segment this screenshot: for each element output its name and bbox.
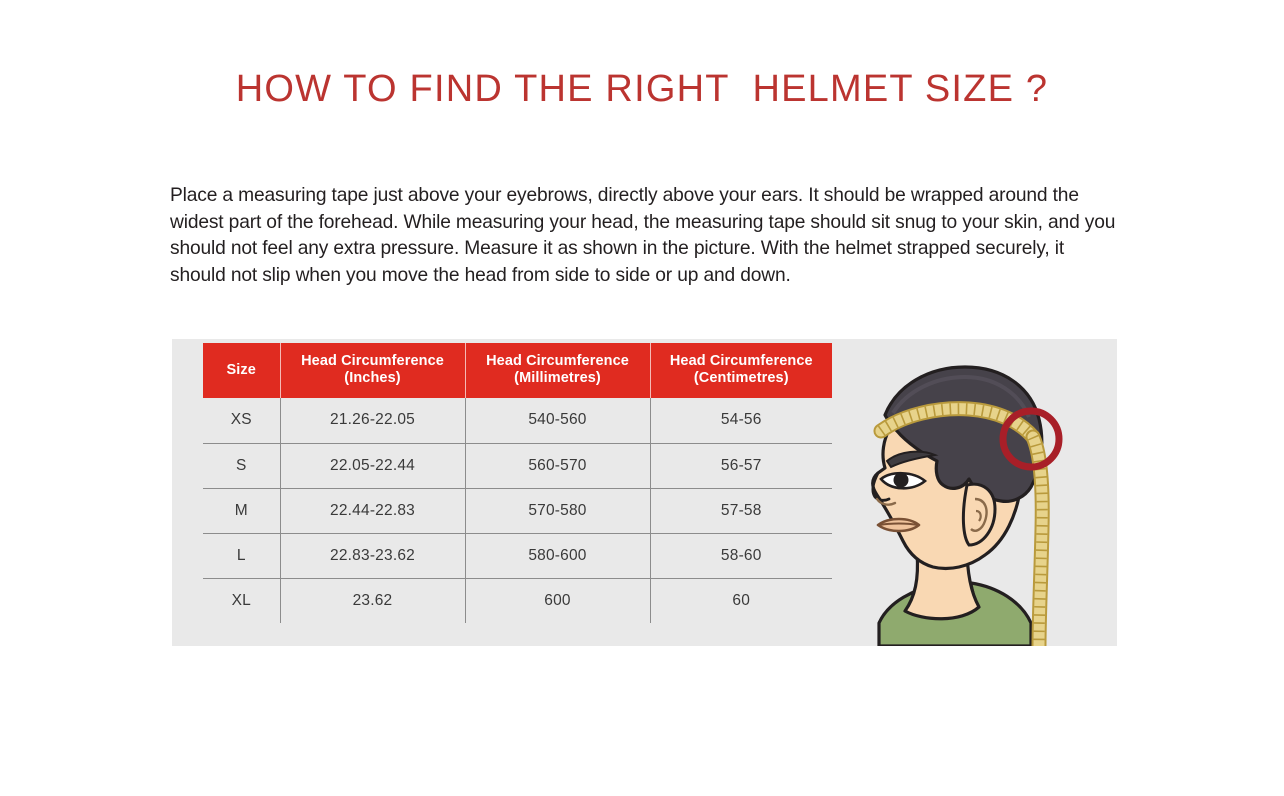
header-line-1: Head Circumference xyxy=(670,353,813,369)
cell-inches: 22.05-22.44 xyxy=(280,443,465,488)
cell-centimetres: 56-57 xyxy=(650,443,832,488)
cell-size: XS xyxy=(203,398,280,443)
table-row: L 22.83-23.62 580-600 58-60 xyxy=(203,533,832,578)
head-measurement-svg xyxy=(845,339,1085,646)
pupil xyxy=(894,473,909,488)
helmet-size-guide-page: HOW TO FIND THE RIGHT HELMET SIZE ? Plac… xyxy=(0,0,1284,796)
cell-centimetres: 58-60 xyxy=(650,533,832,578)
header-line-2: (Millimetres) xyxy=(514,370,601,386)
cell-millimetres: 570-580 xyxy=(465,488,650,533)
cell-millimetres: 560-570 xyxy=(465,443,650,488)
cell-centimetres: 57-58 xyxy=(650,488,832,533)
size-table-wrapper: Size Head Circumference (Inches) Head Ci… xyxy=(203,343,832,642)
cell-centimetres: 54-56 xyxy=(650,398,832,443)
cell-size: M xyxy=(203,488,280,533)
table-row: XL 23.62 600 60 xyxy=(203,578,832,623)
cell-size: L xyxy=(203,533,280,578)
cell-size: S xyxy=(203,443,280,488)
header-line-2: (Centimetres) xyxy=(694,370,789,386)
cell-millimetres: 580-600 xyxy=(465,533,650,578)
cell-size: XL xyxy=(203,578,280,623)
size-table: Size Head Circumference (Inches) Head Ci… xyxy=(203,343,832,623)
cell-inches: 22.83-23.62 xyxy=(280,533,465,578)
table-row: M 22.44-22.83 570-580 57-58 xyxy=(203,488,832,533)
page-title: HOW TO FIND THE RIGHT HELMET SIZE ? xyxy=(0,68,1284,111)
cell-millimetres: 540-560 xyxy=(465,398,650,443)
table-row: S 22.05-22.44 560-570 56-57 xyxy=(203,443,832,488)
size-table-body: XS 21.26-22.05 540-560 54-56 S 22.05-22.… xyxy=(203,398,832,623)
cell-inches: 21.26-22.05 xyxy=(280,398,465,443)
column-header-centimetres: Head Circumference (Centimetres) xyxy=(650,343,832,398)
head-measurement-illustration xyxy=(845,339,1085,646)
cell-centimetres: 60 xyxy=(650,578,832,623)
cell-inches: 23.62 xyxy=(280,578,465,623)
column-header-size: Size xyxy=(203,343,280,398)
cell-millimetres: 600 xyxy=(465,578,650,623)
header-line-2: (Inches) xyxy=(344,370,400,386)
intro-paragraph: Place a measuring tape just above your e… xyxy=(170,183,1120,289)
cell-inches: 22.44-22.83 xyxy=(280,488,465,533)
header-line-1: Head Circumference xyxy=(486,353,629,369)
size-table-head: Size Head Circumference (Inches) Head Ci… xyxy=(203,343,832,398)
column-header-inches: Head Circumference (Inches) xyxy=(280,343,465,398)
column-header-millimetres: Head Circumference (Millimetres) xyxy=(465,343,650,398)
header-line-1: Size xyxy=(227,362,256,378)
table-row: XS 21.26-22.05 540-560 54-56 xyxy=(203,398,832,443)
header-line-1: Head Circumference xyxy=(301,353,444,369)
mouth-shape xyxy=(878,519,919,531)
table-header-row: Size Head Circumference (Inches) Head Ci… xyxy=(203,343,832,398)
